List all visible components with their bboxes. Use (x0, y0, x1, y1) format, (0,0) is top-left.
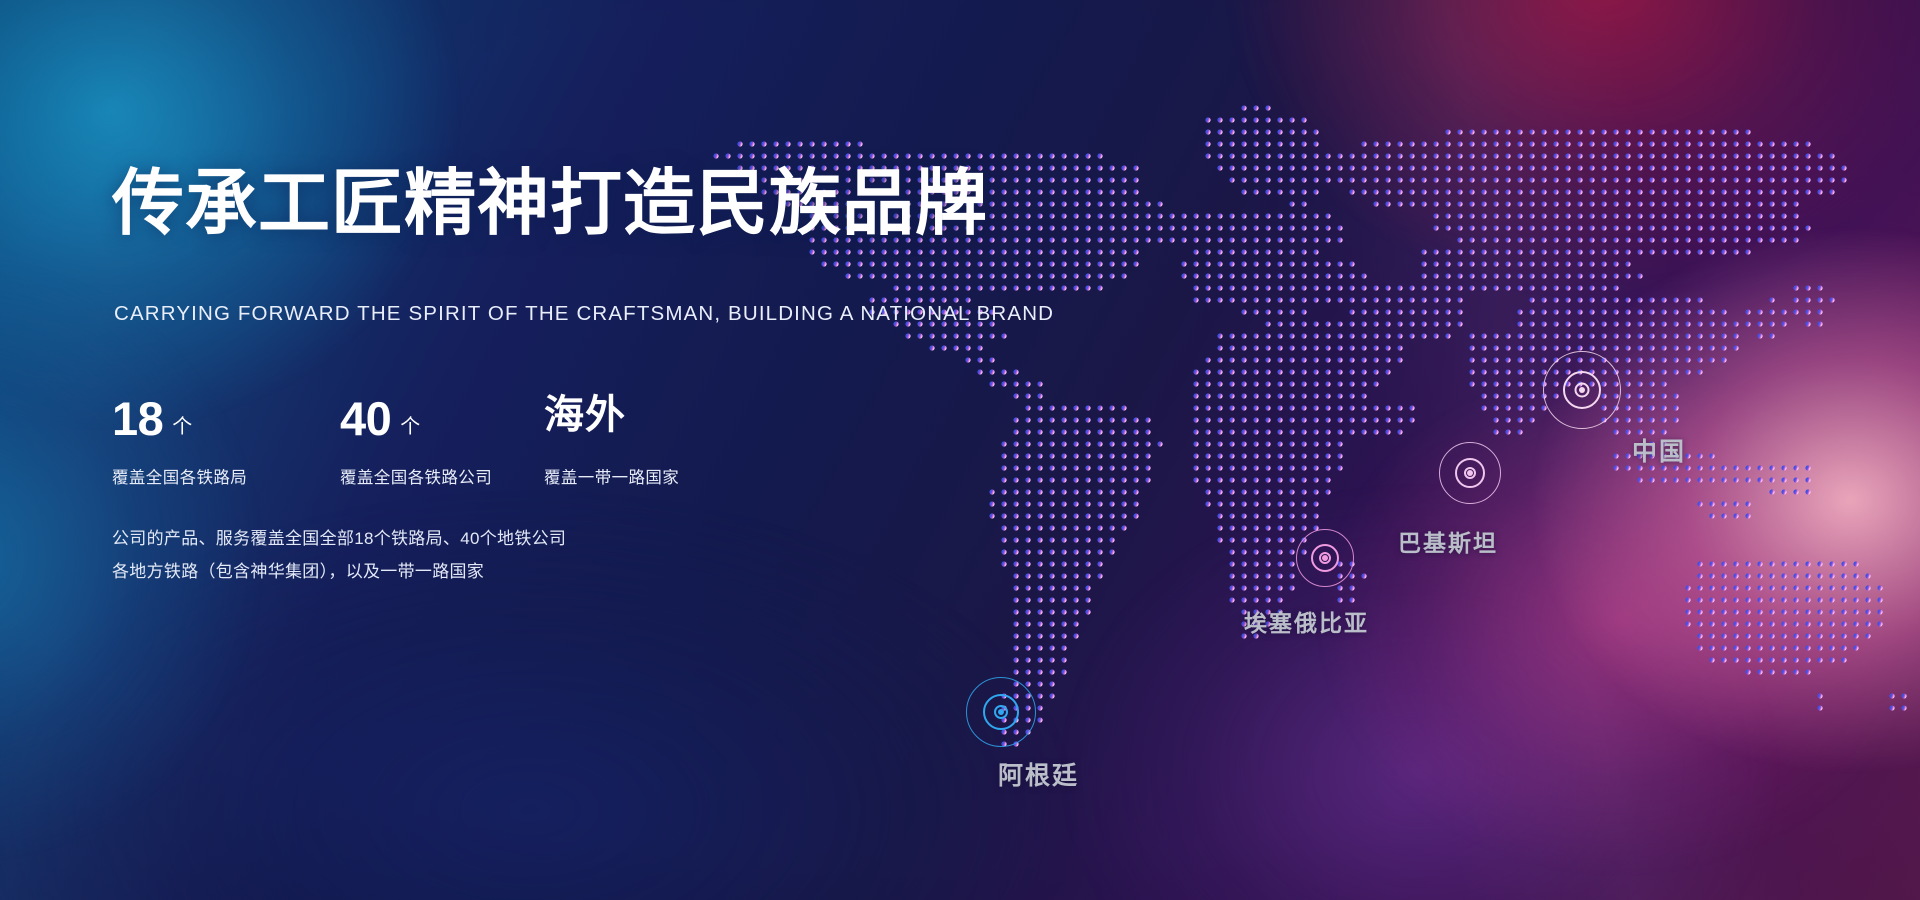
description-paragraph: 公司的产品、服务覆盖全国全部18个铁路局、40个地铁公司 各地方铁路（包含神华集… (112, 522, 566, 588)
description-line-2: 各地方铁路（包含神华集团），以及一带一路国家 (112, 555, 566, 588)
stat-item-railway-bureaus: 18 个 覆盖全国各铁路局 (112, 395, 340, 488)
stats-row: 18 个 覆盖全国各铁路局 40 个 覆盖全国各铁路公司 海外 覆盖一带一路国家 (112, 395, 744, 488)
stat-value: 海外 (544, 395, 626, 435)
stat-value: 18 (112, 395, 163, 442)
stat-item-overseas: 海外 覆盖一带一路国家 (544, 395, 744, 488)
stat-label: 覆盖一带一路国家 (544, 464, 744, 488)
stat-value-row: 海外 (544, 395, 744, 451)
promo-banner: 中国 巴基斯坦 埃塞俄比亚 阿根廷 传承工匠精神打造民族品牌 CARRYING … (0, 0, 1920, 900)
stat-value: 40 (340, 395, 391, 442)
stat-unit: 个 (400, 417, 420, 437)
map-label-pakistan: 巴基斯坦 (1398, 524, 1498, 558)
stat-label: 覆盖全国各铁路公司 (340, 464, 544, 488)
stat-value-row: 40 个 (340, 395, 544, 451)
marker-core-dot (1467, 470, 1473, 476)
stat-value-row: 18 个 (112, 395, 340, 451)
marker-core-dot (998, 709, 1004, 715)
marker-core-dot (1322, 555, 1328, 561)
description-line-1: 公司的产品、服务覆盖全国全部18个铁路局、40个地铁公司 (112, 522, 566, 555)
map-label-ethiopia: 埃塞俄比亚 (1244, 604, 1369, 638)
stat-unit: 个 (172, 417, 192, 437)
map-label-argentina: 阿根廷 (998, 756, 1079, 792)
page-title: 传承工匠精神打造民族品牌 (112, 168, 988, 240)
map-label-china: 中国 (1632, 432, 1686, 468)
marker-core-dot (1579, 387, 1585, 393)
stat-label: 覆盖全国各铁路局 (112, 464, 340, 488)
page-subtitle: CARRYING FORWARD THE SPIRIT OF THE CRAFT… (114, 302, 1054, 326)
stat-item-railway-companies: 40 个 覆盖全国各铁路公司 (340, 395, 544, 488)
